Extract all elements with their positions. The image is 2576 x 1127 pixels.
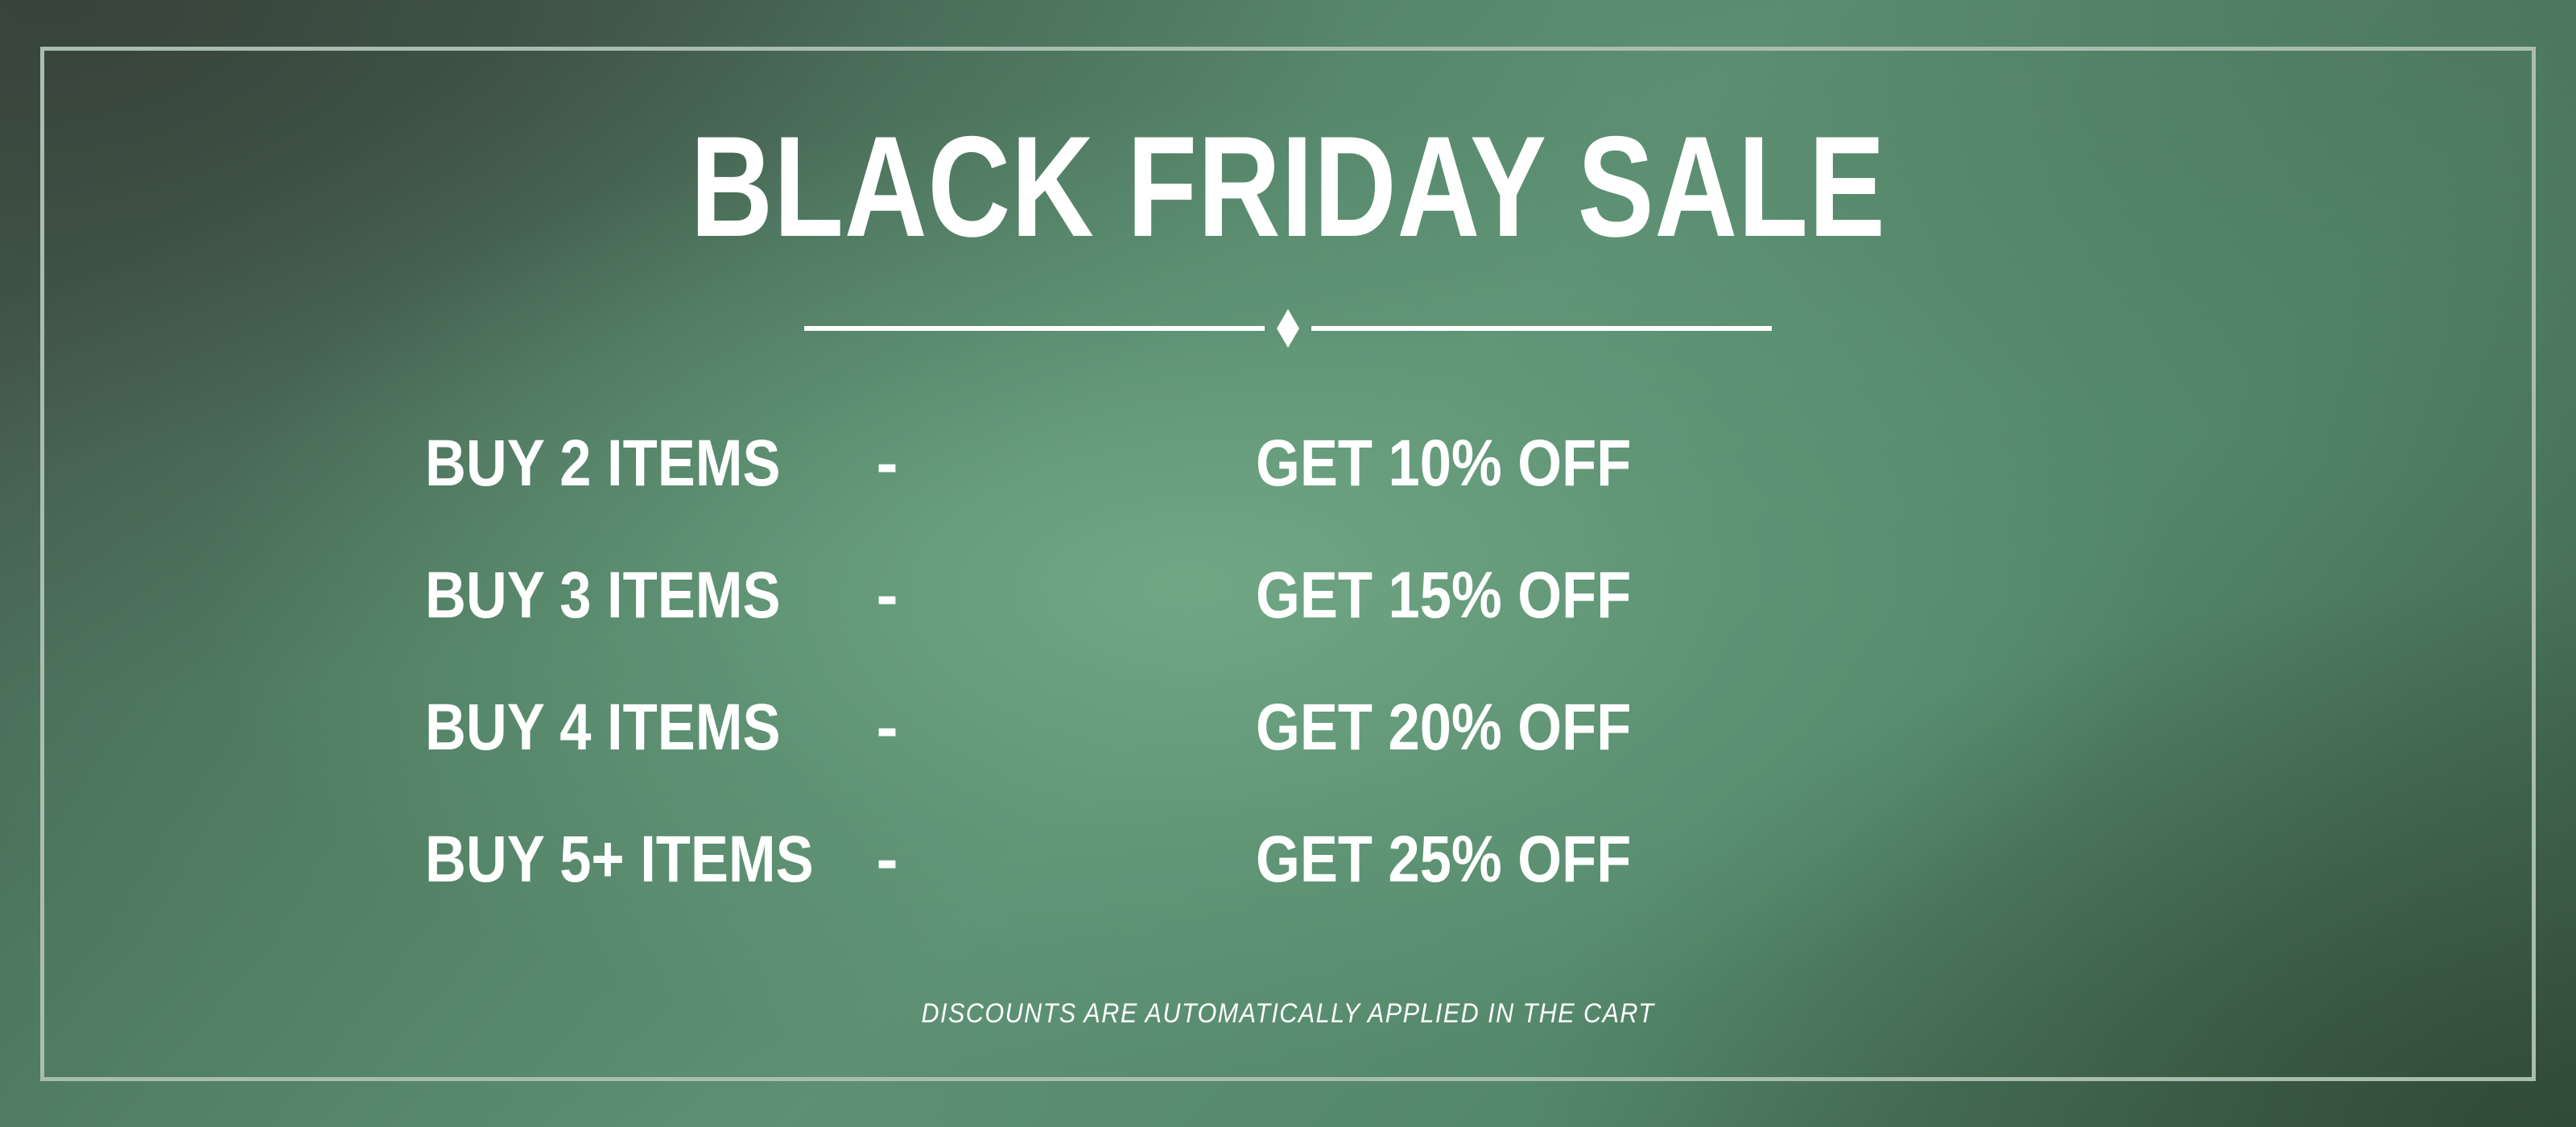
- offer-discount: GET 20% OFF: [913, 695, 2576, 761]
- offer-separator: -: [861, 695, 913, 761]
- offer-discount: GET 25% OFF: [913, 827, 2576, 893]
- offer-row: BUY 2 ITEMS - GET 10% OFF: [0, 398, 2576, 530]
- offer-quantity: BUY 2 ITEMS: [0, 431, 861, 497]
- divider-rule-right: [1311, 326, 1772, 331]
- offer-discount-label: GET 20% OFF: [1256, 695, 1631, 761]
- divider-rule-left: [804, 326, 1265, 331]
- offer-separator: -: [861, 563, 913, 629]
- offer-row: BUY 5+ ITEMS - GET 25% OFF: [0, 794, 2576, 926]
- offer-discount-label: GET 15% OFF: [1256, 563, 1631, 629]
- offer-quantity-label: BUY 4 ITEMS: [425, 695, 781, 761]
- offer-quantity: BUY 5+ ITEMS: [0, 827, 861, 893]
- offer-row: BUY 4 ITEMS - GET 20% OFF: [0, 662, 2576, 794]
- offer-quantity-label: BUY 3 ITEMS: [425, 563, 781, 629]
- offer-quantity-label: BUY 5+ ITEMS: [425, 827, 814, 893]
- offer-discount: GET 10% OFF: [913, 431, 2576, 497]
- banner-content: BLACK FRIDAY SALE BUY 2 ITEMS - GET 10% …: [0, 0, 2576, 1127]
- offer-quantity-label: BUY 2 ITEMS: [425, 431, 781, 497]
- banner-footnote: DISCOUNTS ARE AUTOMATICALLY APPLIED IN T…: [129, 1000, 2447, 1027]
- offer-discount-label: GET 25% OFF: [1256, 827, 1631, 893]
- offer-quantity: BUY 4 ITEMS: [0, 695, 861, 761]
- offer-row: BUY 3 ITEMS - GET 15% OFF: [0, 530, 2576, 662]
- black-friday-sale-banner: BLACK FRIDAY SALE BUY 2 ITEMS - GET 10% …: [0, 0, 2576, 1127]
- offer-quantity: BUY 3 ITEMS: [0, 563, 861, 629]
- offer-separator: -: [861, 431, 913, 497]
- offer-tier-list: BUY 2 ITEMS - GET 10% OFF BUY 3 ITEMS - …: [0, 398, 2576, 926]
- offer-discount: GET 15% OFF: [913, 563, 2576, 629]
- diamond-icon: [1277, 309, 1299, 348]
- banner-headline: BLACK FRIDAY SALE: [258, 115, 2318, 258]
- ornamental-divider: [0, 309, 2576, 348]
- offer-separator: -: [861, 827, 913, 893]
- offer-discount-label: GET 10% OFF: [1256, 431, 1631, 497]
